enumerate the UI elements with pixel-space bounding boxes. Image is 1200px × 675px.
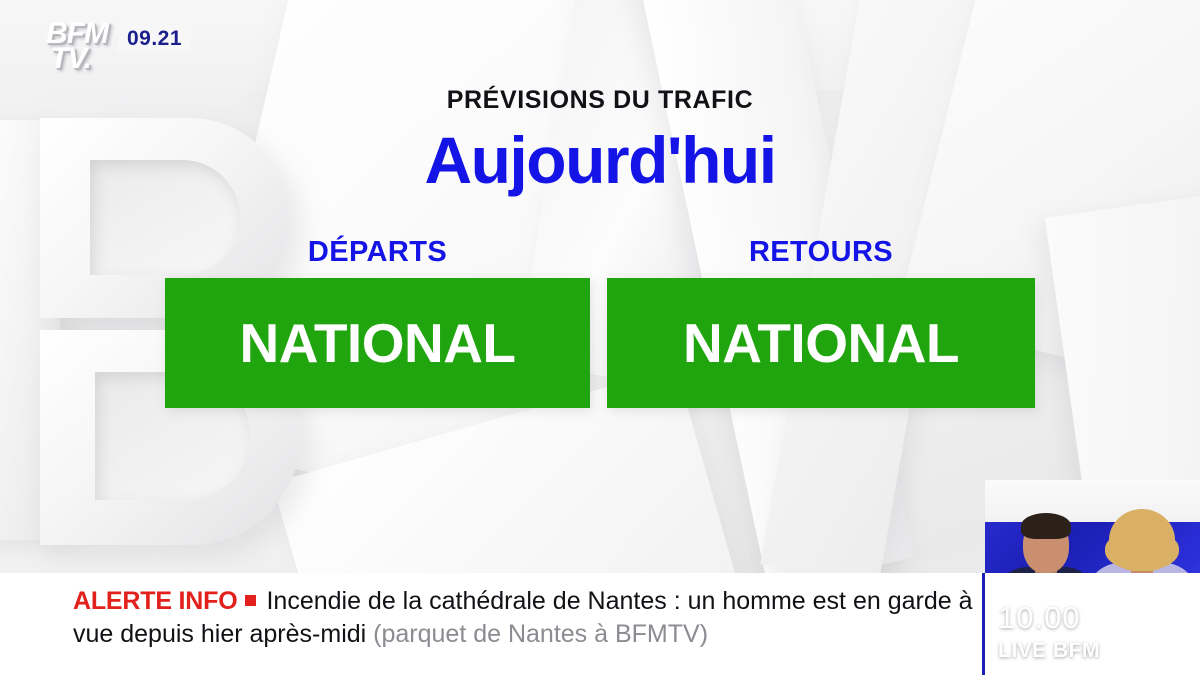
traffic-forecast-columns: DÉPARTS NATIONAL RETOURS NATIONAL — [165, 236, 1035, 408]
kicker-text: PRÉVISIONS DU TRAFIC — [0, 86, 1200, 115]
ticker-panel-divider — [982, 573, 985, 675]
column-retours-status-badge: NATIONAL — [607, 278, 1035, 408]
column-departs-label: DÉPARTS — [308, 236, 447, 269]
next-programme-time: 10.00 — [998, 602, 1100, 633]
next-programme-name: LIVE BFM — [998, 640, 1100, 661]
column-departs: DÉPARTS NATIONAL — [165, 236, 590, 408]
news-ticker-source: (parquet de Nantes à BFMTV) — [373, 620, 708, 648]
column-departs-status-text: NATIONAL — [239, 316, 515, 371]
bfmtv-logo-line2: TV. — [50, 47, 108, 72]
headline-text: Aujourd'hui — [0, 127, 1200, 193]
clock-badge: 09.21 — [118, 25, 191, 53]
column-retours-status-text: NATIONAL — [683, 316, 959, 371]
news-ticker-content: ALERTE INFOIncendie de la cathédrale de … — [73, 585, 978, 650]
title-block: PRÉVISIONS DU TRAFIC Aujourd'hui — [0, 86, 1200, 193]
bfmtv-logo: BFM TV. — [46, 22, 108, 71]
alert-label: ALERTE INFO — [73, 587, 237, 615]
next-programme-info: 10.00 LIVE BFM — [998, 602, 1100, 661]
presenter-male-hair — [1021, 513, 1071, 539]
column-departs-status-badge: NATIONAL — [165, 278, 590, 408]
presenter-female-hair — [1109, 509, 1175, 571]
broadcast-frame: BFM TV. 09.21 PRÉVISIONS DU TRAFIC Aujou… — [0, 0, 1200, 675]
column-retours: RETOURS NATIONAL — [607, 236, 1035, 408]
channel-header: BFM TV. 09.21 — [46, 22, 191, 71]
alert-separator-square-icon — [245, 595, 256, 606]
column-retours-label: RETOURS — [749, 236, 893, 269]
